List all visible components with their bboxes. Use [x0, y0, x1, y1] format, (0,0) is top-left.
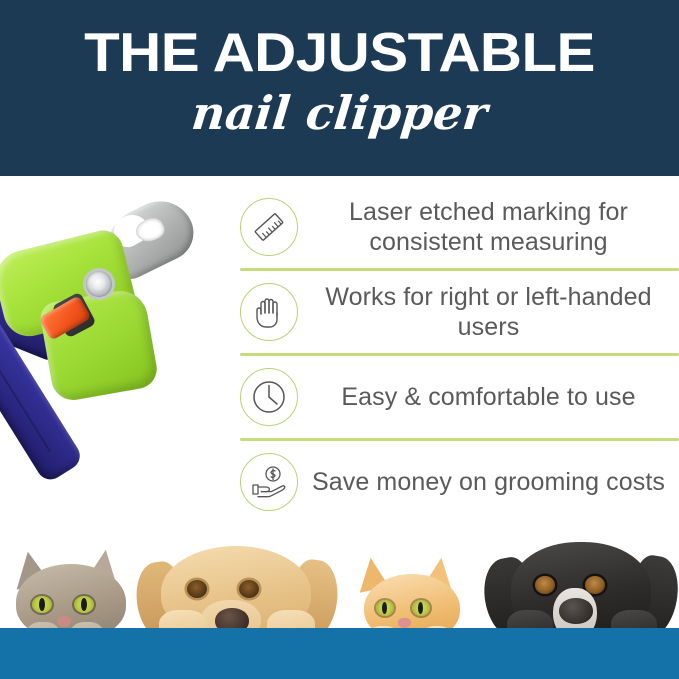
cat-eye-left: [32, 596, 52, 613]
feature-label: Laser etched marking for consistent meas…: [310, 197, 679, 257]
feature-item-easy-comfortable: Easy & comfortable to use: [240, 356, 679, 438]
dog-nose: [559, 598, 593, 624]
header-banner: THE ADJUSTABLE nail clipper: [0, 0, 679, 176]
cat-eye-right: [74, 596, 94, 613]
ruler-icon: [240, 198, 298, 256]
page-title: THE ADJUSTABLE: [0, 22, 679, 82]
product-image: [0, 185, 236, 545]
cat-eye-left: [376, 600, 394, 616]
dog-eye-right: [239, 580, 259, 598]
page-subtitle: nail clipper: [0, 86, 679, 140]
pet-golden-retriever-dog: [135, 538, 340, 638]
feature-item-laser-etched-marking: Laser etched marking for consistent meas…: [240, 186, 679, 268]
cat-eye-right: [412, 600, 430, 616]
feature-list: Laser etched marking for consistent meas…: [240, 186, 679, 523]
cat-nose: [398, 618, 411, 628]
dog-eye-left: [535, 576, 555, 594]
product-infographic: THE ADJUSTABLE nail clipper: [0, 0, 679, 679]
feature-label: Easy & comfortable to use: [310, 382, 679, 412]
cat-nose: [57, 616, 71, 627]
feature-item-right-or-left-handed: Works for right or left-handed users: [240, 271, 679, 353]
hand-icon: [240, 283, 298, 341]
pet-black-and-white-dog: [485, 536, 677, 638]
pet-orange-cat: [352, 558, 470, 638]
pet-photo-strip: [0, 528, 679, 679]
money-hand-icon: [240, 453, 298, 511]
feature-item-save-money: Save money on grooming costs: [240, 441, 679, 523]
pet-tabby-cat: [6, 550, 138, 638]
clipper-pivot-bolt: [86, 271, 112, 297]
bottom-color-band: [0, 628, 679, 679]
feature-label: Works for right or left-handed users: [310, 282, 679, 342]
clock-icon: [240, 368, 298, 426]
dog-eye-left: [187, 580, 207, 598]
feature-label: Save money on grooming costs: [310, 467, 679, 497]
